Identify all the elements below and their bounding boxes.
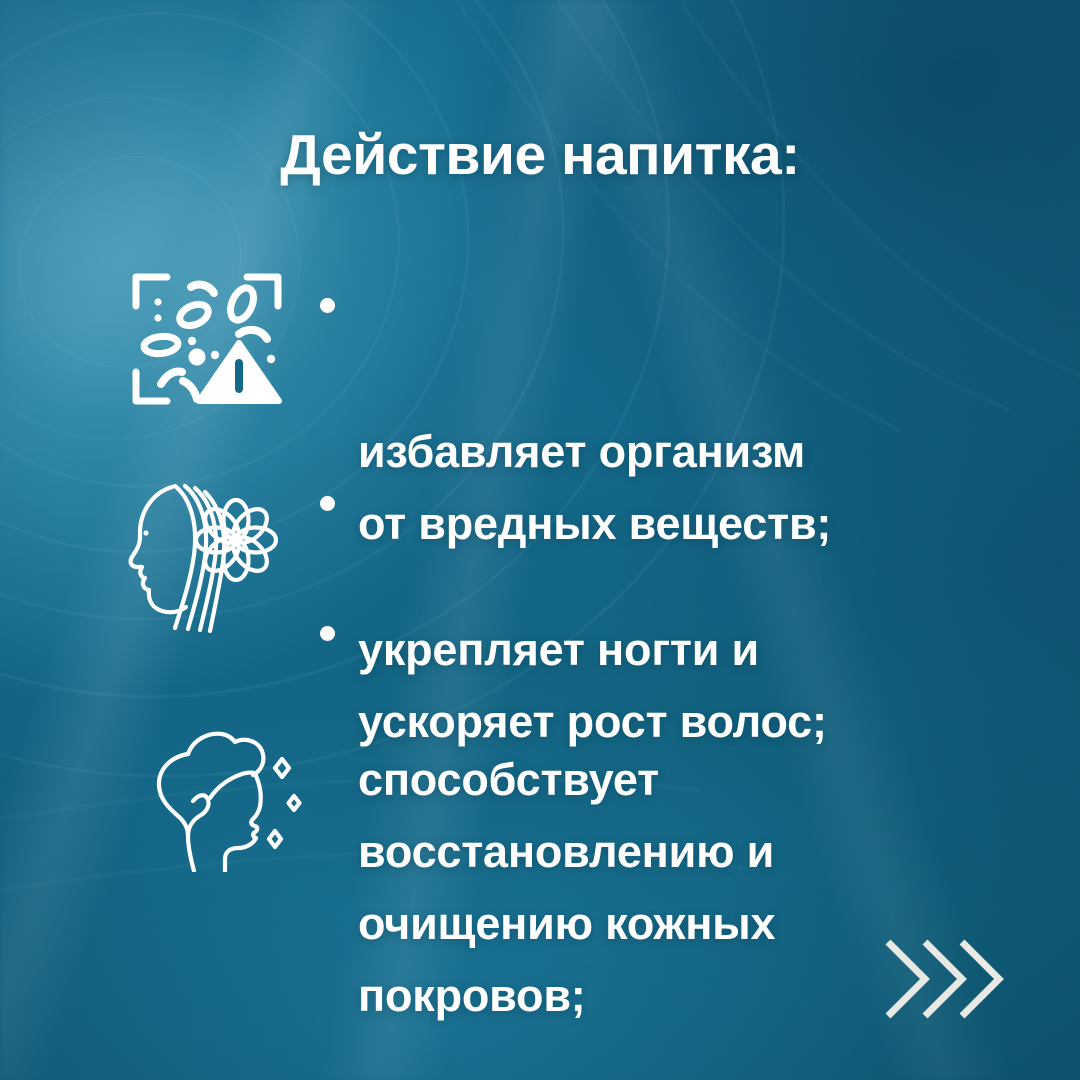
bullet-marker bbox=[320, 298, 335, 313]
toxin-scan-icon bbox=[131, 271, 283, 407]
bullet-marker bbox=[320, 496, 335, 511]
benefit-text-3: способствует восстановлению и очищению к… bbox=[358, 754, 775, 1021]
skin-glow-icon bbox=[148, 724, 308, 872]
slide-canvas: Действие напитка: bbox=[0, 0, 1080, 1080]
page-title: Действие напитка: bbox=[0, 122, 1080, 188]
triple-chevron-right-icon[interactable] bbox=[884, 936, 1006, 1022]
bullet-marker bbox=[320, 626, 335, 641]
hair-nails-icon bbox=[128, 477, 278, 633]
slide-content: Действие напитка: bbox=[0, 0, 1080, 1080]
